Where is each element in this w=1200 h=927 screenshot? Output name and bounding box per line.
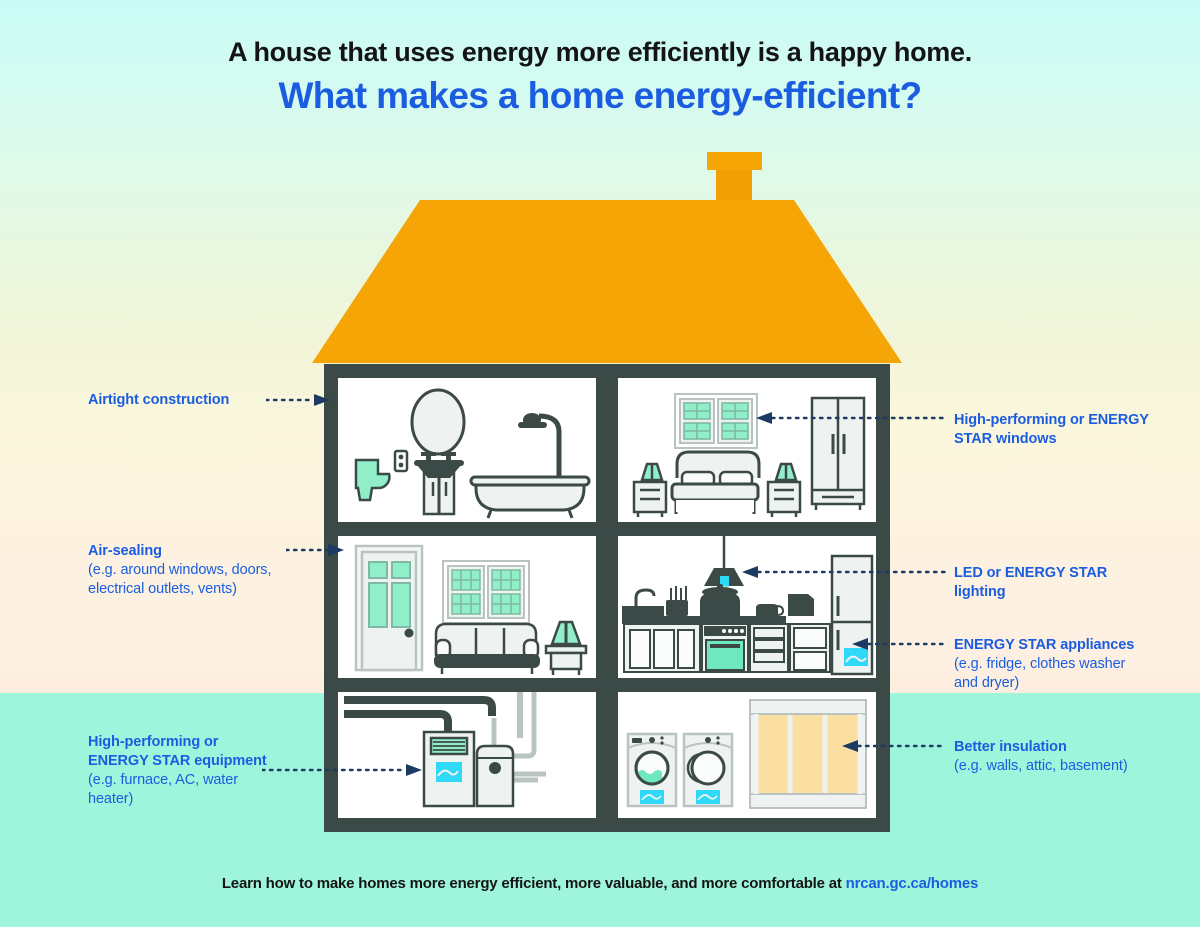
kitchen-scene-icon — [618, 536, 876, 678]
callout-title: High-performing or ENERGY STAR equipment — [88, 733, 288, 771]
callout-airtight-construction: Airtight construction — [88, 391, 268, 410]
callout-air-sealing: Air-sealing (e.g. around windows, doors,… — [88, 542, 288, 599]
infographic-canvas: A house that uses energy more efficientl… — [0, 0, 1200, 927]
footer-link[interactable]: nrcan.gc.ca/homes — [846, 875, 979, 892]
page-title-block: A house that uses energy more efficientl… — [0, 36, 1200, 120]
callout-led-lighting: LED or ENERGY STAR lighting — [954, 564, 1184, 602]
callout-detail: (e.g. furnace, AC, water heater) — [88, 771, 288, 809]
callout-title: Better insulation — [954, 738, 1184, 757]
leader-led-lighting — [742, 566, 946, 578]
callout-energy-star-appliances: ENERGY STAR appliances (e.g. fridge, clo… — [954, 636, 1184, 693]
page-subtitle: A house that uses energy more efficientl… — [0, 36, 1200, 68]
chimney-stack — [716, 166, 752, 204]
leader-energy-star-windows — [756, 412, 946, 424]
leader-air-sealing — [286, 544, 344, 556]
footer-text: Learn how to make homes more energy effi… — [222, 875, 846, 892]
callout-high-performing-equipment: High-performing or ENERGY STAR equipment… — [88, 733, 288, 808]
chimney-cap — [707, 152, 762, 170]
leader-better-insulation — [842, 740, 946, 752]
room-kitchen — [618, 536, 876, 678]
house-illustration — [312, 152, 902, 832]
callout-title: LED or ENERGY STAR lighting — [954, 564, 1184, 602]
leader-airtight-construction — [266, 394, 330, 406]
page-title: What makes a home energy-efficient? — [0, 73, 1200, 119]
laundry-scene-icon — [618, 692, 876, 818]
callout-title: High-performing or ENERGY STAR windows — [954, 411, 1184, 449]
callout-detail: (e.g. fridge, clothes washer and dryer) — [954, 655, 1184, 693]
callout-energy-star-windows: High-performing or ENERGY STAR windows — [954, 411, 1184, 449]
callout-better-insulation: Better insulation (e.g. walls, attic, ba… — [954, 738, 1184, 776]
callout-detail: (e.g. walls, attic, basement) — [954, 757, 1184, 776]
bathroom-scene-icon — [338, 378, 596, 522]
room-mechanical — [338, 692, 596, 818]
footer-cta: Learn how to make homes more energy effi… — [0, 875, 1200, 892]
roof-icon — [312, 200, 902, 365]
callout-detail: (e.g. around windows, doors, electrical … — [88, 561, 288, 599]
house-body — [324, 364, 890, 832]
room-bathroom — [338, 378, 596, 522]
room-bedroom — [618, 378, 876, 522]
callout-title: ENERGY STAR appliances — [954, 636, 1184, 655]
leader-high-performing-equipment — [262, 764, 422, 776]
room-laundry — [618, 692, 876, 818]
living-room-scene-icon — [338, 536, 596, 678]
leader-energy-star-appliances — [852, 638, 946, 650]
mechanical-scene-icon — [338, 692, 596, 818]
bedroom-scene-icon — [618, 378, 876, 522]
callout-title: Air-sealing — [88, 542, 288, 561]
chimney — [707, 152, 762, 204]
callout-title: Airtight construction — [88, 391, 268, 410]
room-living-room — [338, 536, 596, 678]
